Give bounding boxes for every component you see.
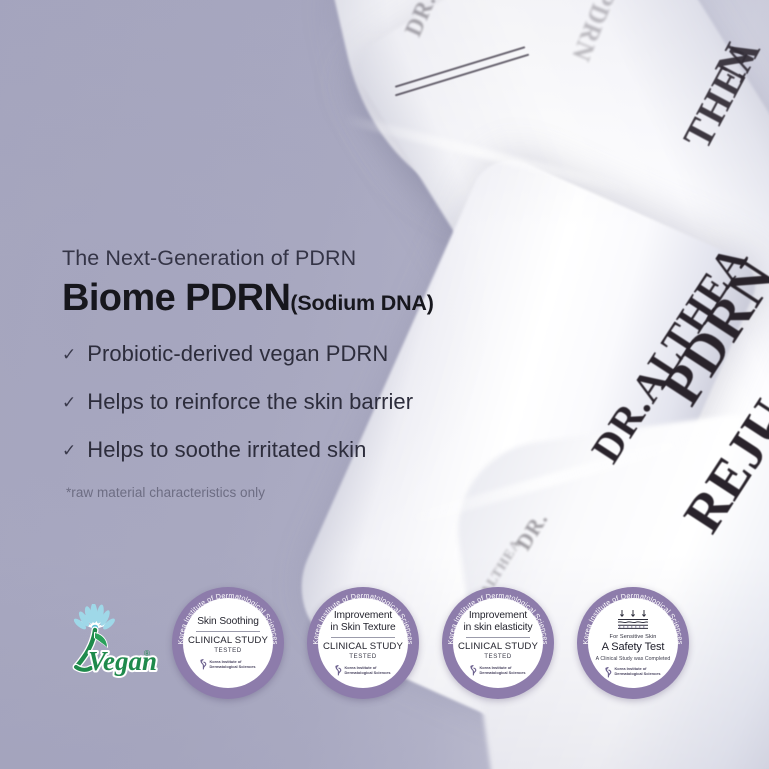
marketing-copy-block: The Next-Generation of PDRN Biome PDRN(S… [62,246,532,500]
badge-inner: Skin Soothing CLINICAL STUDY TESTED Kore… [183,598,273,688]
institute-mark-icon [470,665,477,676]
check-icon: ✓ [62,394,76,411]
badge-safety-test: Korea Institute of Dermatological Scienc… [577,587,689,699]
badge-study-label: CLINICAL STUDY [458,641,538,652]
badge-title-line-1: Improvement [330,610,395,622]
eyebrow-text: The Next-Generation of PDRN [62,246,532,271]
badge-footer-line-2: Dermatological Sciences [209,665,255,670]
check-icon: ✓ [62,346,76,363]
benefit-bullet-1-label: Probiotic-derived vegan PDRN [87,341,388,367]
footnote-text: *raw material characteristics only [66,485,532,500]
badge-footer: Korea Institute of Dermatological Scienc… [605,667,660,678]
badge-footer: Korea Institute of Dermatological Scienc… [200,659,255,670]
headline-subtitle: (Sodium DNA) [290,291,433,315]
badge-study-label: CLINICAL STUDY [188,635,268,646]
vegan-logo: Vegan Vegan ® [58,604,158,678]
check-icon: ✓ [62,442,76,459]
badge-footer-line-2: Dermatological Sciences [614,672,660,677]
badge-divider [466,637,530,638]
badge-footer-text: Korea Institute of Dermatological Scienc… [344,666,390,676]
badge-inner: For Sensitive Skin A Safety Test A Clini… [588,598,678,688]
badge-study-label: CLINICAL STUDY [323,641,403,652]
badge-divider [331,637,395,638]
institute-mark-icon [605,667,612,678]
vegan-flower-icon: Vegan Vegan ® [58,604,158,678]
badge-small-title: For Sensitive Skin [610,634,657,640]
badge-footer: Korea Institute of Dermatological Scienc… [335,665,390,676]
badge-inner: Improvement in Skin Texture CLINICAL STU… [318,598,408,688]
badge-note: A Clinical Study was Completed [596,656,671,662]
badge-footer-text: Korea Institute of Dermatological Scienc… [209,660,255,670]
badge-skin-elasticity: Korea Institute of Dermatological Scienc… [442,587,554,699]
badge-divider [196,631,260,632]
badge-footer: Korea Institute of Dermatological Scienc… [470,665,525,676]
benefit-bullet-2-label: Helps to reinforce the skin barrier [87,389,413,415]
badge-title-line-2: in skin elasticity [464,622,533,634]
headline-main: Biome PDRN [62,277,290,319]
product-promo-banner: THEA N DR.ALTHEA PDRN REJU 50 CREAM DR. … [0,0,769,769]
badge-tested-label: TESTED [349,653,376,660]
badge-safety-title: A Safety Test [602,641,665,653]
benefit-bullet-3: ✓ Helps to soothe irritated skin [62,437,532,463]
badge-tested-label: TESTED [484,653,511,660]
badge-skin-texture: Korea Institute of Dermatological Scienc… [307,587,419,699]
benefit-bullet-2: ✓ Helps to reinforce the skin barrier [62,389,532,415]
registered-trademark-icon: ® [144,649,150,658]
badge-tested-label: TESTED [214,647,241,654]
badge-title-line-2: in Skin Texture [330,622,395,634]
badge-skin-soothing: Korea Institute of Dermatological Scienc… [172,587,284,699]
badge-title: Improvement in Skin Texture [326,610,399,634]
badge-footer-line-2: Dermatological Sciences [344,671,390,676]
benefit-bullet-3-label: Helps to soothe irritated skin [87,437,366,463]
institute-mark-icon [335,665,342,676]
badge-footer-text: Korea Institute of Dermatological Scienc… [479,666,525,676]
badge-footer-text: Korea Institute of Dermatological Scienc… [614,667,660,677]
page-title: Biome PDRN(Sodium DNA) [62,279,532,319]
badge-footer-line-2: Dermatological Sciences [479,671,525,676]
sensitive-skin-icon [613,609,653,631]
certification-badges-row: Korea Institute of Dermatological Scienc… [172,587,712,699]
badge-title: Improvement in skin elasticity [460,610,537,634]
institute-mark-icon [200,659,207,670]
badge-inner: Improvement in skin elasticity CLINICAL … [453,598,543,688]
badge-title-line-1: Improvement [464,610,533,622]
benefit-bullet-1: ✓ Probiotic-derived vegan PDRN [62,341,532,367]
badge-title: Skin Soothing [193,616,263,628]
